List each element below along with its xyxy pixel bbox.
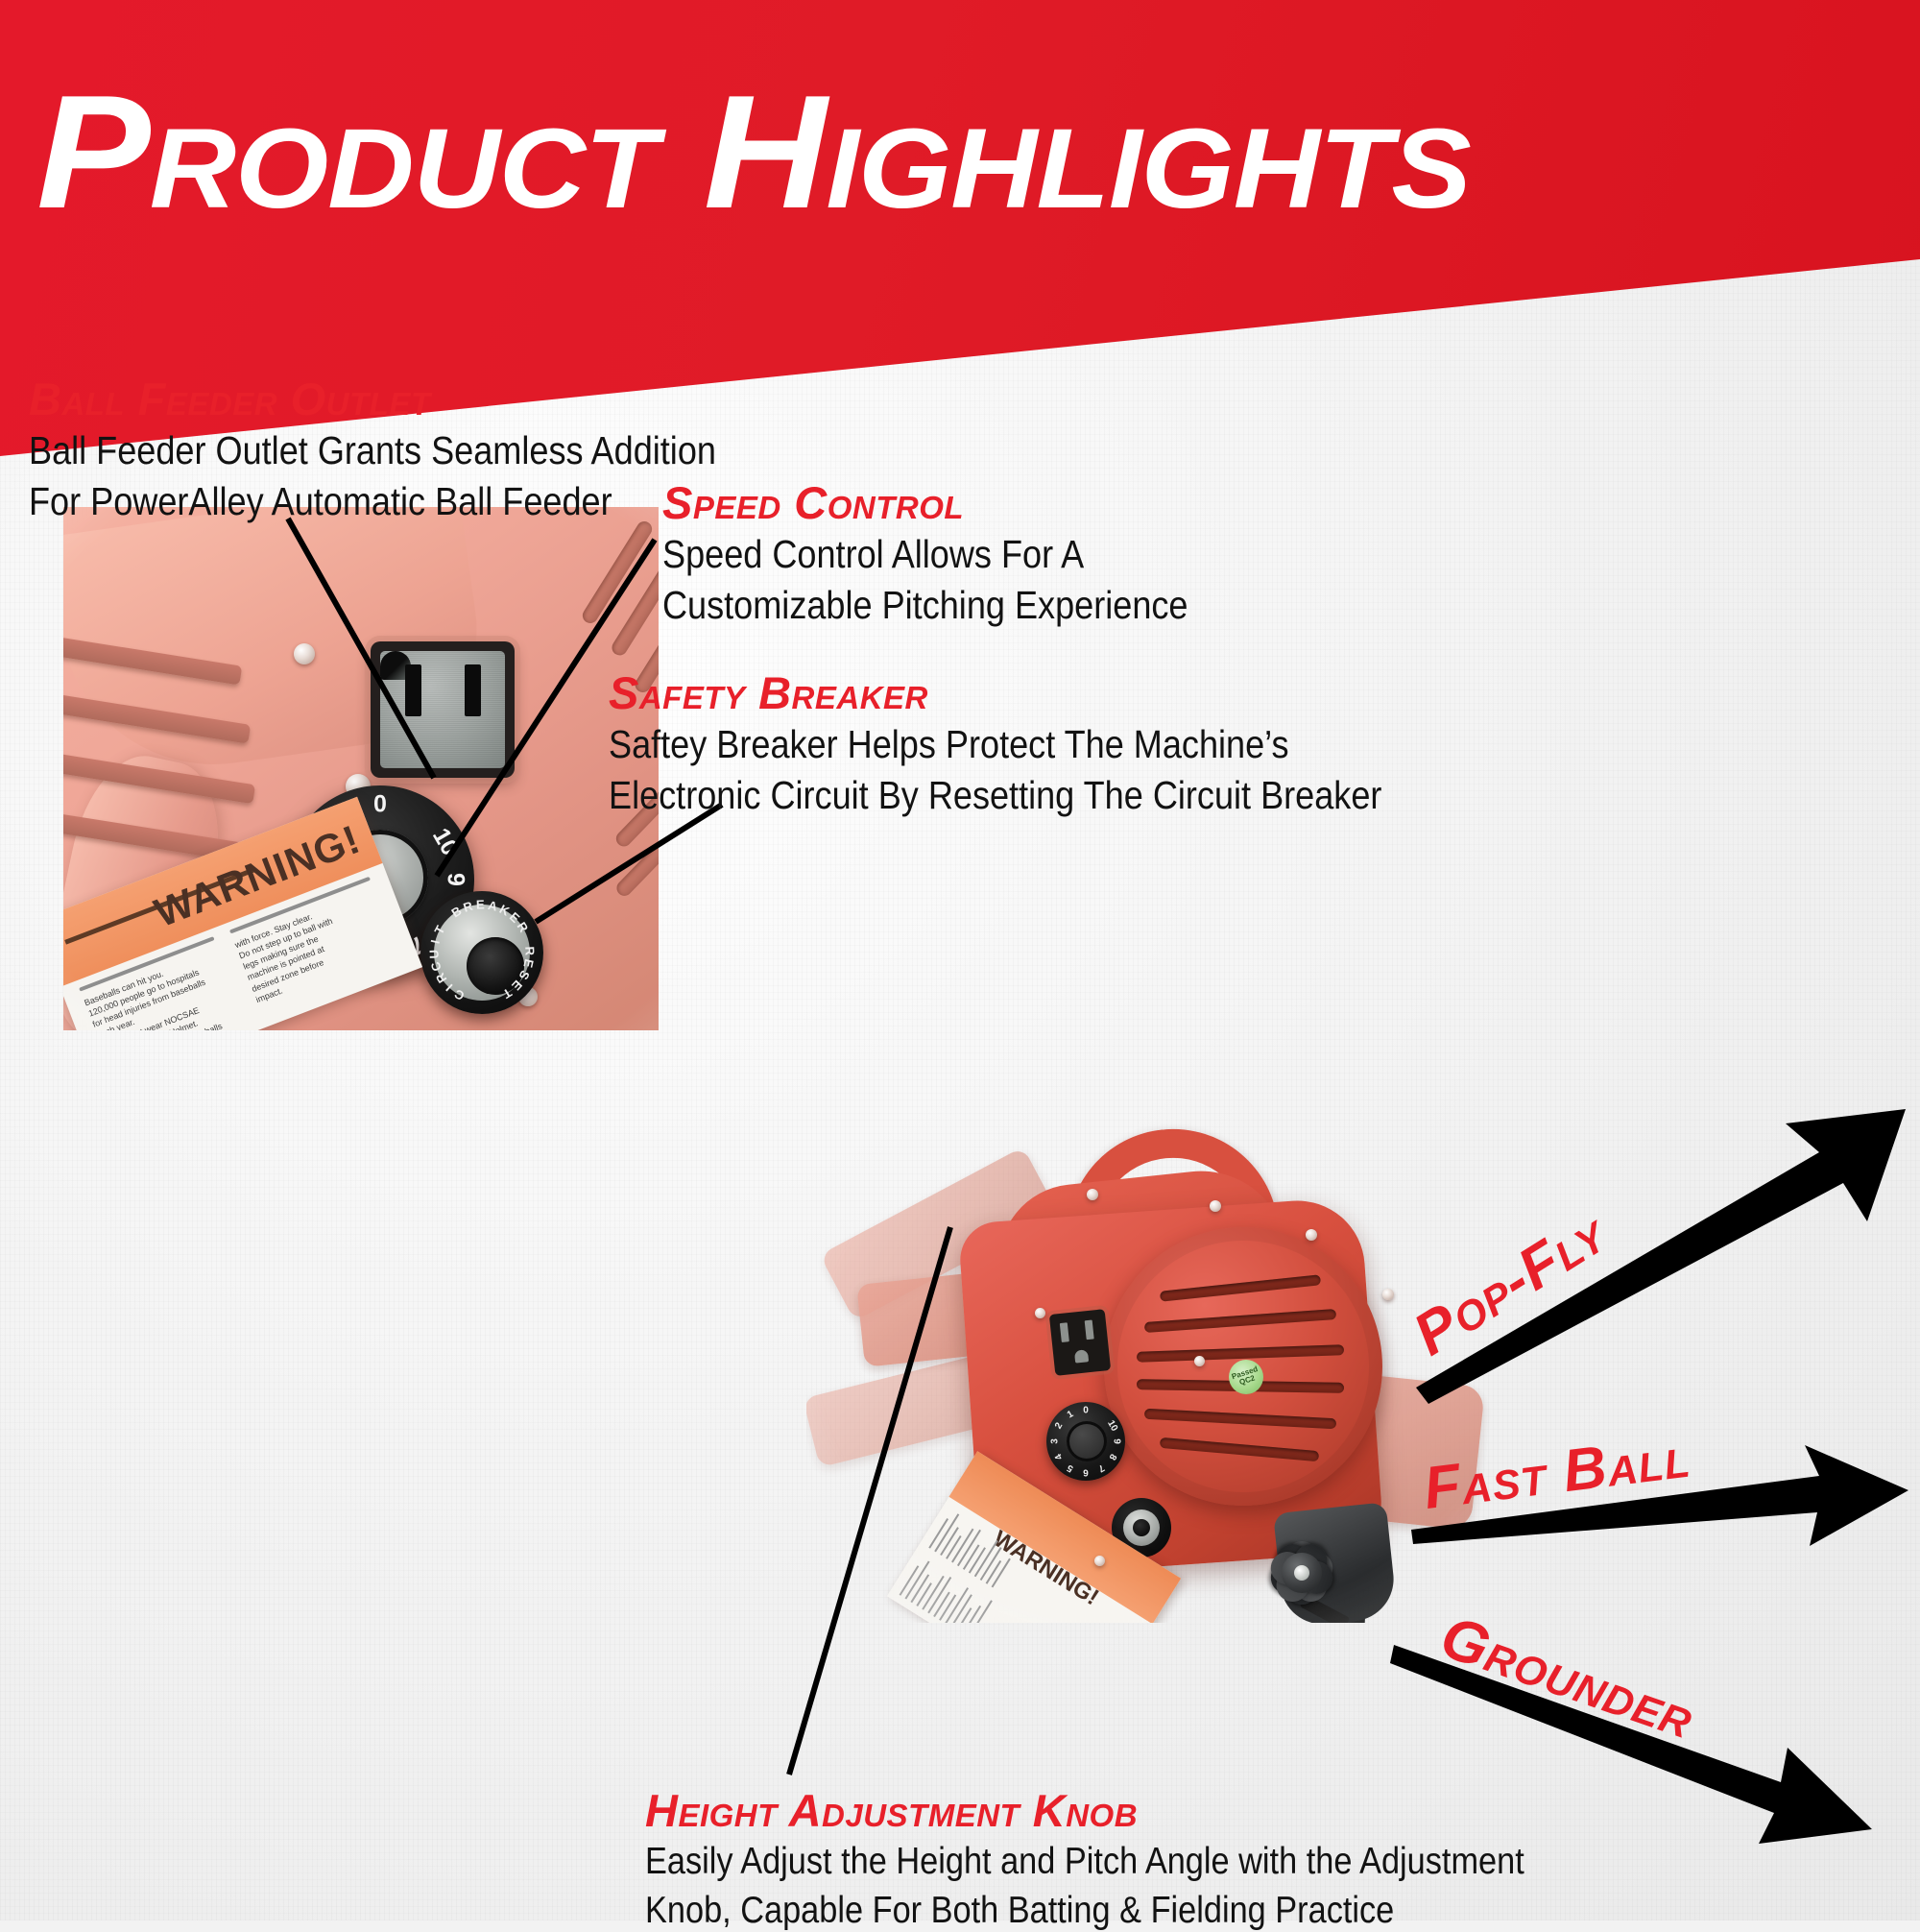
height-adjustment-assembly [1219,1498,1411,1671]
speed-dial-number: 0 [373,791,387,819]
speed-dial-number-small: 2 [1053,1421,1065,1431]
product-photo-closeup: 012345678910 CIRCUIT BREAKER RESET WARNI… [63,507,659,1030]
wheel-vent [1160,1274,1321,1302]
callout-body-line-1: Easily Adjust the Height and Pitch Angle… [645,1840,1524,1883]
breaker-label-char: E [476,897,485,911]
wheel-vent [1144,1309,1336,1333]
knob-screw [1294,1565,1309,1581]
support-pole [1328,1603,1365,1776]
outlet-slot-left [405,664,421,716]
screw [1194,1356,1205,1366]
outlet-slot-right [465,664,481,716]
speed-dial-number-small: 5 [1066,1462,1075,1474]
speed-dial-number-small: 9 [1112,1438,1122,1444]
warning-label-line-small [992,1558,1011,1588]
screw [1087,1189,1098,1200]
breaker-label-char: R [522,946,537,955]
outlet-face [380,651,505,768]
screw [1035,1308,1045,1318]
height-adjustment-knob [1252,1523,1352,1623]
wheel-vent [1144,1409,1336,1429]
grounder-label: Grounder [1432,1603,1703,1752]
screw [1094,1556,1105,1566]
screw [1382,1289,1394,1300]
breaker-button-small [1133,1519,1150,1536]
speed-dial-number-small: 0 [1083,1406,1089,1416]
speed-dial-number: 9 [442,873,469,886]
callout-heading: Height Adjustment Knob [645,1788,1644,1834]
speed-dial-number-small: 4 [1053,1452,1065,1461]
callout-safety-breaker: Safety Breaker Saftey Breaker Helps Prot… [609,670,1487,819]
callout-heading: Speed Control [662,480,1260,526]
wheel-vent [1160,1437,1319,1461]
safety-circuit-breaker: CIRCUIT BREAKER RESET [420,891,543,1014]
speed-dial-knob-small [1067,1421,1107,1461]
callout-body-line-1: Saftey Breaker Helps Protect The Machine… [609,722,1381,768]
page-title: Product Highlights [36,71,1920,232]
speed-dial-number-small: 7 [1096,1462,1106,1474]
screw [294,643,315,664]
callout-body-line-2: Knob, Capable For Both Batting & Fieldin… [645,1889,1524,1932]
speed-dial-number-small: 3 [1050,1438,1061,1444]
product-photo-full-machine: Passed QC2 012345678910 [806,1085,1498,1623]
outlet-socket-small [1049,1309,1111,1376]
callout-heading: Ball Feeder Outlet [29,376,810,423]
callout-body-line-1: Speed Control Allows For A [662,532,1188,578]
speed-dial-number-small: 6 [1083,1467,1089,1478]
screw [1210,1200,1221,1212]
speed-dial-number-small: 1 [1066,1409,1075,1420]
breaker-label-char: U [426,950,441,959]
screw [1306,1229,1317,1241]
callout-body-line-2: Customizable Pitching Experience [662,583,1188,629]
speed-dial-number-small: 8 [1107,1452,1118,1461]
qc-sticker: Passed QC2 [1229,1360,1263,1394]
callout-body-line-2: Electronic Circuit By Resetting The Circ… [609,773,1381,819]
page-background: Product Highlights [0,0,1920,1920]
callout-body-line-1: Ball Feeder Outlet Grants Seamless Addit… [29,428,716,474]
callout-height-adjustment-knob: Height Adjustment Knob Easily Adjust the… [645,1788,1644,1932]
speed-dial-number: 10 [426,824,464,861]
callout-heading: Safety Breaker [609,670,1487,716]
speed-dial-number-small: 10 [1105,1418,1119,1433]
speed-control-dial-small: 012345678910 [1046,1402,1125,1481]
callout-speed-control: Speed Control Speed Control Allows For A… [662,480,1260,629]
ball-feeder-outlet-socket [371,641,515,778]
callout-body-line-2: For PowerAlley Automatic Ball Feeder [29,479,716,525]
